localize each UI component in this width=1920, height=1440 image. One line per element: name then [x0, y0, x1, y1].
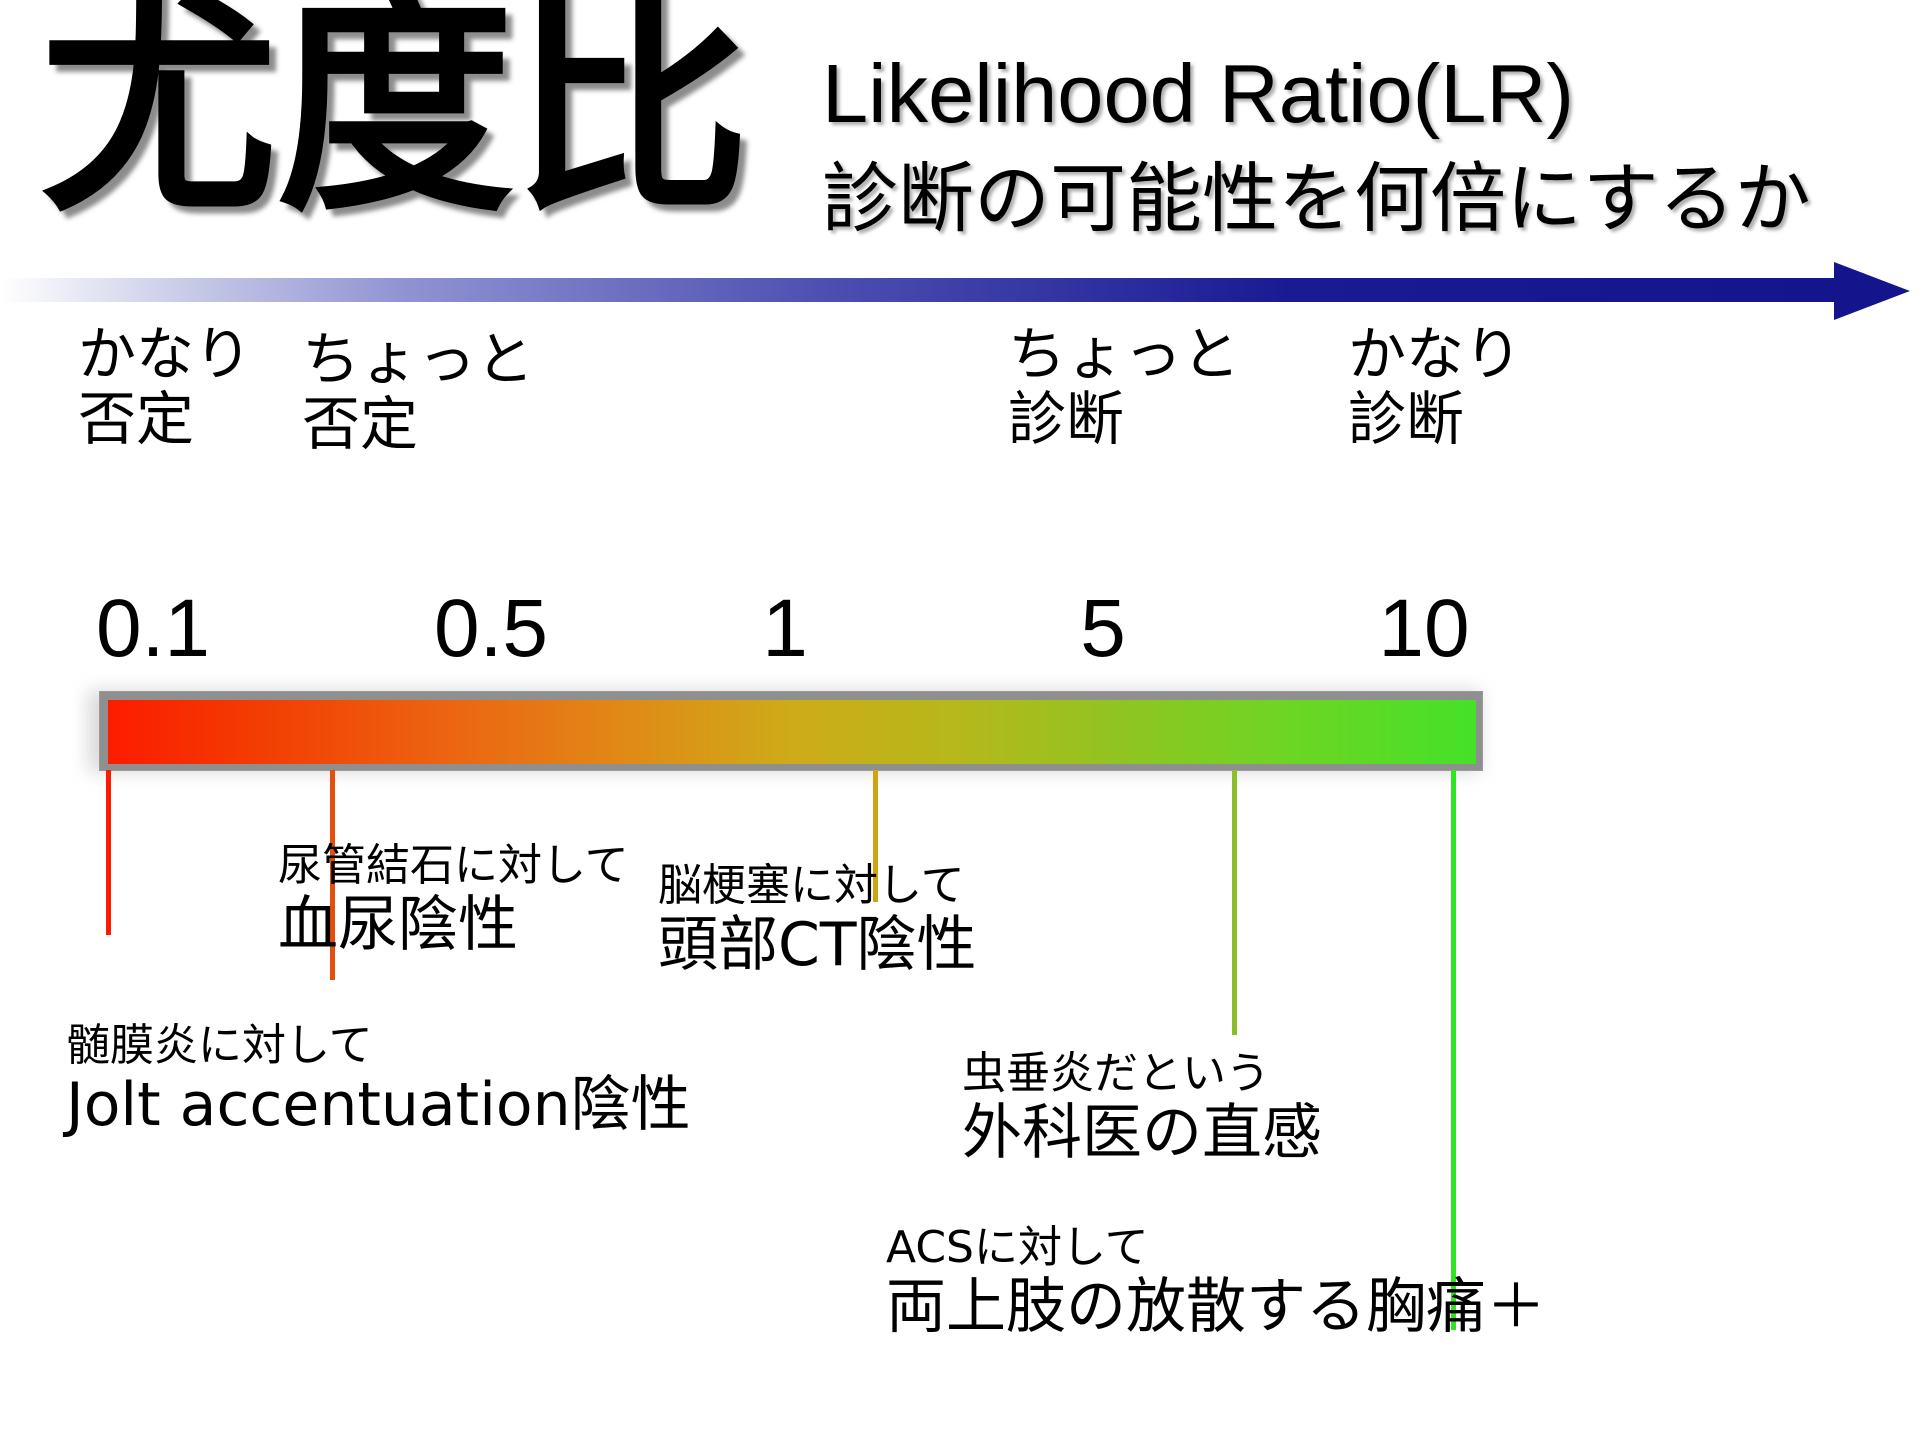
- annotation-finding: 外科医の直感: [962, 1100, 1322, 1167]
- scale-tick-10: 10: [1378, 588, 1469, 670]
- likelihood-ratio-colorbar: [108, 700, 1476, 764]
- zone-label-line1: かなり: [1348, 320, 1522, 388]
- zone-label-line1: ちょっと: [1008, 320, 1240, 388]
- arrow-shaft: [0, 278, 1840, 302]
- zone-label-line1: かなり: [78, 320, 252, 388]
- zone-label-line2: 否定: [302, 392, 534, 457]
- annotation-finding: 両上肢の放散する胸痛＋: [886, 1274, 1546, 1341]
- annotation-ureteral-stone: 尿管結石に対して 血尿陰性: [278, 840, 629, 959]
- scale-tick-1: 1: [762, 588, 808, 670]
- zone-label-line2: 否定: [78, 387, 252, 452]
- annotation-acs: ACSに対して 両上肢の放散する胸痛＋: [886, 1222, 1546, 1341]
- zone-label-line1: ちょっと: [302, 325, 534, 393]
- annotation-finding: 頭部CT陰性: [658, 912, 977, 979]
- scale-tick-5: 5: [1080, 588, 1126, 670]
- title-block: 尤度比 Likelihood Ratio(LR) 診断の可能性を何倍にするか: [0, 0, 1920, 268]
- title-english-subtitle: Likelihood Ratio(LR): [822, 52, 1574, 137]
- connector-line-meningitis: [106, 770, 111, 935]
- arrow-head-icon: [1834, 262, 1910, 320]
- annotation-meningitis: 髄膜炎に対して Jolt accentuation陰性: [66, 1020, 691, 1139]
- annotation-condition: 虫垂炎だという: [962, 1048, 1322, 1100]
- scale-tick-0.5: 0.5: [434, 588, 548, 670]
- zone-label-slight-negative: ちょっと 否定: [302, 327, 534, 457]
- annotation-finding: 血尿陰性: [278, 892, 629, 959]
- page-title: 尤度比: [40, 0, 748, 226]
- annotation-appendicitis: 虫垂炎だという 外科医の直感: [962, 1048, 1322, 1167]
- zone-label-strong-diagnose: かなり 診断: [1348, 322, 1522, 452]
- zone-label-slight-diagnose: ちょっと 診断: [1008, 322, 1240, 452]
- connector-line-appendicitis: [1232, 770, 1237, 1035]
- zone-label-line2: 診断: [1348, 387, 1522, 452]
- annotation-finding: Jolt accentuation陰性: [66, 1072, 691, 1139]
- gradient-arrow: [0, 262, 1920, 320]
- scale-tick-0.1: 0.1: [96, 588, 210, 670]
- annotation-condition: 尿管結石に対して: [278, 840, 629, 892]
- zone-label-line2: 診断: [1008, 387, 1240, 452]
- annotation-cerebral-infarction: 脳梗塞に対して 頭部CT陰性: [658, 860, 977, 979]
- annotation-condition: ACSに対して: [886, 1222, 1546, 1274]
- annotation-condition: 脳梗塞に対して: [658, 860, 977, 912]
- title-japanese-subtitle: 診断の可能性を何倍にするか: [822, 160, 1811, 238]
- zone-label-strong-negative: かなり 否定: [78, 322, 252, 452]
- annotation-condition: 髄膜炎に対して: [66, 1020, 691, 1072]
